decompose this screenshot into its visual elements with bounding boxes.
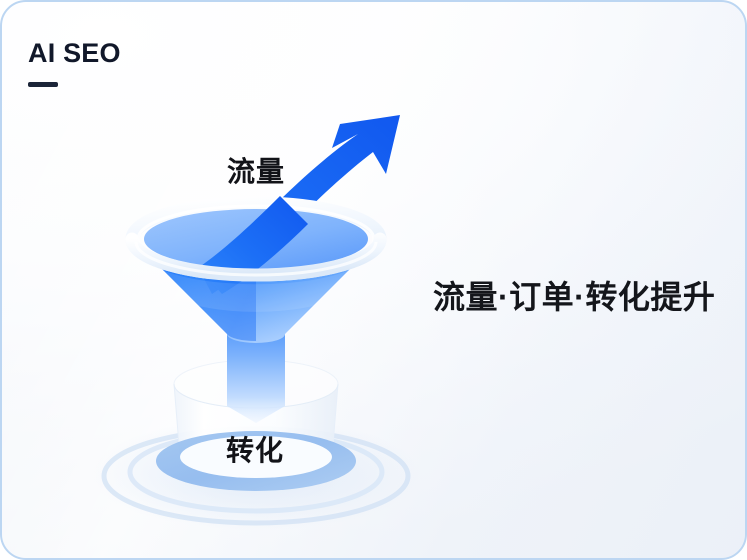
title-underline-rule xyxy=(28,82,58,87)
page-title: AI SEO xyxy=(28,40,121,67)
slide-canvas: AI SEO 流量 转化 流量·订单·转化提升 xyxy=(0,0,747,560)
label-conversion: 转化 xyxy=(226,437,284,465)
tagline-text: 流量·订单·转化提升 xyxy=(433,281,715,313)
label-traffic: 流量 xyxy=(227,158,285,186)
brand-block: AI SEO xyxy=(28,40,121,87)
